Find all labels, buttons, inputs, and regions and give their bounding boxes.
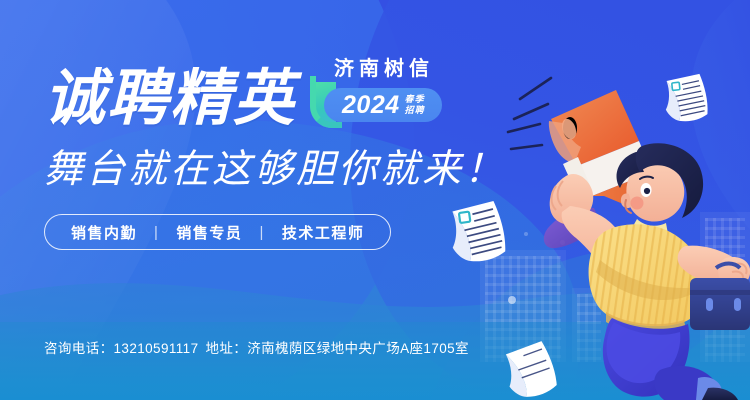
job-tags-capsule: 销售内勤 | 销售专员 | 技术工程师 <box>44 214 391 250</box>
contact-line: 咨询电话：13210591117地址：济南槐荫区绿地中央广场A座1705室 <box>44 337 469 357</box>
address-label: 地址： <box>206 341 248 356</box>
season-stack: 春季 招聘 <box>405 94 425 115</box>
phone-value[interactable]: 13210591117 <box>114 341 199 356</box>
character-head <box>617 143 704 237</box>
page-subtitle: 舞台就在这够胆你就来！ <box>44 138 506 194</box>
job-tag-sales-support[interactable]: 销售内勤 <box>71 222 137 243</box>
job-tag-sales-specialist[interactable]: 销售专员 <box>176 222 242 243</box>
resume-document-icon <box>501 340 559 400</box>
tag-separator: | <box>242 224 281 241</box>
resume-document-icon <box>662 73 708 123</box>
headline-row: 诚聘精英 济南树信 2024 春季 招聘 <box>44 52 506 128</box>
headline-block: 诚聘精英 济南树信 2024 春季 招聘 舞台就在这够胆你就来！ 销售内勤 <box>44 52 506 250</box>
season-line-2: 招聘 <box>405 105 425 116</box>
address-value: 济南槐荫区绿地中央广场A座1705室 <box>247 341 469 356</box>
page-title: 诚聘精英 <box>44 69 296 128</box>
tag-separator: | <box>137 224 176 241</box>
character-shirt <box>589 224 706 334</box>
year-label: 2024 <box>342 93 400 118</box>
character-legs <box>603 318 738 400</box>
year-badge: 2024 春季 招聘 <box>324 88 442 122</box>
recruitment-banner: 诚聘精英 济南树信 2024 春季 招聘 舞台就在这够胆你就来！ 销售内勤 <box>0 0 750 400</box>
season-line-1: 春季 <box>405 94 425 105</box>
company-badge: 济南树信 2024 春季 招聘 <box>310 52 434 128</box>
job-tag-engineer[interactable]: 技术工程师 <box>282 222 365 243</box>
sound-motion-lines <box>508 78 551 149</box>
phone-label: 咨询电话： <box>44 341 114 356</box>
